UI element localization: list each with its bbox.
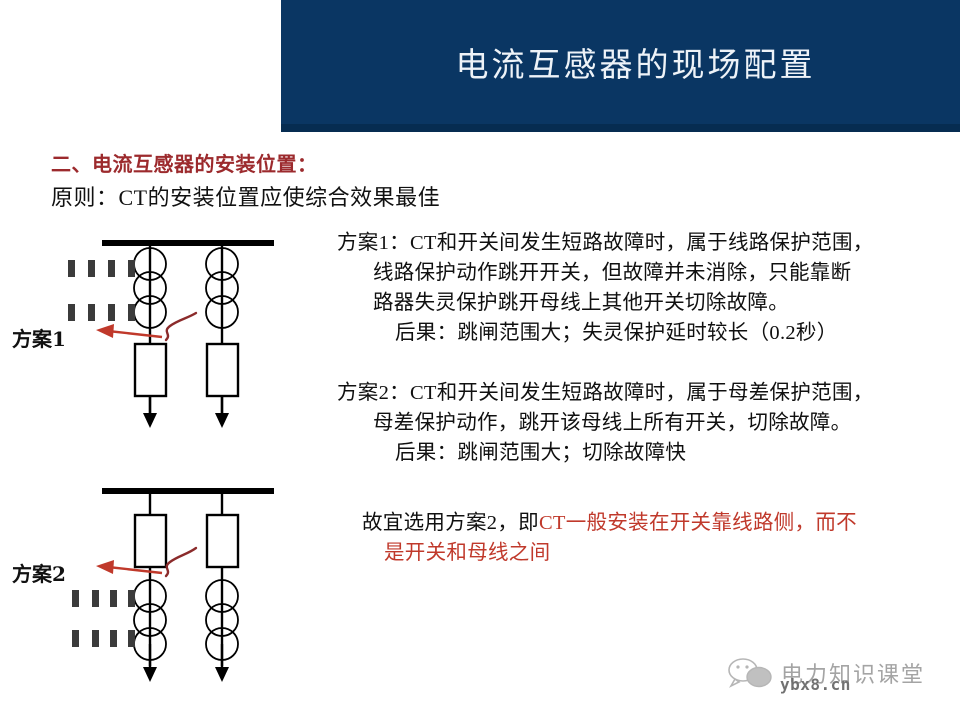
scheme1-line3: 路器失灵保护跳开母线上其他开关切除故障。 xyxy=(337,288,952,318)
down-arrow-icon xyxy=(143,667,157,682)
other-feeders-marks xyxy=(68,260,135,321)
diagram1-svg xyxy=(0,220,330,440)
conclusion-line1: 故宜选用方案2，即CT一般安装在开关靠线路侧，而不 xyxy=(362,508,960,538)
fault-zigzag-icon xyxy=(166,548,196,576)
down-arrow-icon xyxy=(143,413,157,428)
scheme2-result: 后果：跳闸范围大；切除故障快 xyxy=(337,438,952,468)
diagram-scheme2 xyxy=(0,470,330,700)
scheme1-line2: 线路保护动作跳开开关，但故障并未消除，只能靠断 xyxy=(337,258,952,288)
breaker-box-icon xyxy=(207,344,238,396)
fault-arrow-head-icon xyxy=(96,560,114,574)
breaker-box-icon xyxy=(207,515,238,567)
watermark: 电力知识课堂 ybx8.cn xyxy=(726,655,951,701)
scheme2-line2: 母差保护动作，跳开该母线上所有开关，切除故障。 xyxy=(337,408,952,438)
diagram-scheme1 xyxy=(0,220,330,440)
fault-arrow-line xyxy=(108,331,162,337)
wechat-icon xyxy=(726,657,776,691)
page-title: 电流互感器的现场配置 xyxy=(281,0,960,124)
header-banner: 电流互感器的现场配置 xyxy=(281,0,960,132)
conclusion-red-part1: CT一般安装在开关靠线路侧，而不 xyxy=(539,512,857,534)
banner-bottom-strip xyxy=(281,124,960,132)
scheme1-result: 后果：跳闸范围大；失灵保护延时较长（0.2秒） xyxy=(337,318,952,348)
section-heading: 二、电流互感器的安装位置： xyxy=(51,148,318,177)
conclusion-paragraph: 故宜选用方案2，即CT一般安装在开关靠线路侧，而不 是开关和母线之间 xyxy=(362,508,960,568)
conclusion-red-part2: 是开关和母线之间 xyxy=(362,538,960,568)
scheme1-line1: 方案1：CT和开关间发生短路故障时，属于线路保护范围， xyxy=(337,228,952,258)
fault-arrow-head-icon xyxy=(96,324,114,338)
breaker-box-icon xyxy=(135,515,166,567)
diagram2-svg xyxy=(0,470,330,700)
breaker-box-icon xyxy=(135,344,166,396)
fault-zigzag-icon xyxy=(166,313,196,340)
other-feeders-marks xyxy=(72,590,135,647)
watermark-url: ybx8.cn xyxy=(780,675,851,694)
scheme2-line1: 方案2：CT和开关间发生短路故障时，属于母差保护范围， xyxy=(337,378,952,408)
principle-text: 原则：CT的安装位置应使综合效果最佳 xyxy=(51,180,440,212)
busbar-line xyxy=(102,488,274,494)
down-arrow-icon xyxy=(215,667,229,682)
busbar-line xyxy=(102,240,274,246)
conclusion-black-prefix: 故宜选用方案2，即 xyxy=(362,512,539,534)
scheme1-paragraph: 方案1：CT和开关间发生短路故障时，属于线路保护范围， 线路保护动作跳开开关，但… xyxy=(337,228,952,348)
down-arrow-icon xyxy=(215,413,229,428)
slide-root: 电流互感器的现场配置 二、电流互感器的安装位置： 原则：CT的安装位置应使综合效… xyxy=(0,0,960,720)
scheme2-paragraph: 方案2：CT和开关间发生短路故障时，属于母差保护范围， 母差保护动作，跳开该母线… xyxy=(337,378,952,468)
